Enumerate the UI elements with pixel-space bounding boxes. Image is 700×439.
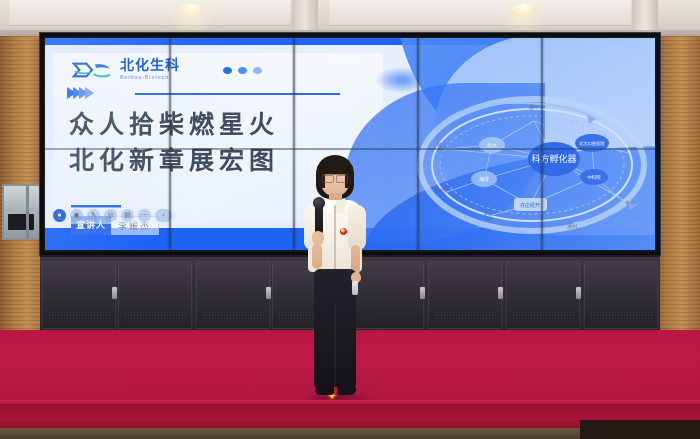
highlighter-icon[interactable]: ◎ <box>104 209 117 222</box>
shoe-right <box>337 385 356 395</box>
header-rule <box>135 93 340 95</box>
decor-dot-1 <box>223 67 232 74</box>
network-diagram-svg: 昌平 顺义 朝阳 大兴 通州 丰台 北大 海淀 <box>414 93 649 238</box>
shoe-left <box>315 385 334 395</box>
wall-panel-right <box>654 36 700 354</box>
sleeve-right <box>348 205 366 250</box>
arm-left <box>312 243 322 269</box>
video-wall-seam <box>417 38 419 250</box>
decor-dot-3 <box>253 67 262 74</box>
ceiling-bay <box>330 0 630 26</box>
brand-logo: 北化生科 Beihua-Biotech <box>71 59 180 81</box>
glasses-icon <box>322 174 348 181</box>
diagram-city-label: 昌平 <box>529 105 539 111</box>
presenter-person <box>296 155 374 405</box>
slide-grid-icon[interactable]: ▤ <box>121 209 134 222</box>
hand-left <box>312 231 324 245</box>
video-wall-seam <box>45 148 655 150</box>
diagram-node-label: 北大口腔医院 <box>579 140 605 147</box>
cabinet-vent <box>434 311 496 324</box>
cabinet-latch-icon[interactable] <box>576 287 581 299</box>
decor-blob <box>375 67 429 93</box>
diagram-city-label: 大兴 <box>483 212 493 219</box>
ceiling-spotlight-icon <box>510 4 536 16</box>
presentation-scene: 北化生科 Beihua-Biotech <box>0 0 700 439</box>
diagram-node-label: 中科院 <box>587 174 601 181</box>
presentation-toolbar[interactable]: ● ◉ ✎ ◎ ▤ ⋯ ‹ <box>49 207 176 224</box>
chevron-decor-icon <box>67 87 91 99</box>
booth-monitor-icon <box>8 214 34 230</box>
logo-text-en: Beihua-Biotech <box>120 75 180 81</box>
ceiling-bay <box>10 0 290 26</box>
decor-dot-2 <box>238 67 247 74</box>
diagram-node-label: 亦庄经开 <box>520 202 540 209</box>
window-mullion <box>26 186 29 238</box>
cabinet-latch-icon[interactable] <box>112 287 117 299</box>
diagram-node-label: 海淀 <box>479 176 489 183</box>
laser-pointer-icon[interactable]: ◉ <box>70 209 83 222</box>
ceiling-spotlight-icon <box>178 4 204 16</box>
diagram-city-label: 丰台 <box>625 200 635 207</box>
cabinet-latch-icon[interactable] <box>266 287 271 299</box>
cabinet-vent <box>512 311 574 324</box>
cabinet-vent <box>590 311 652 324</box>
cabinet-latch-icon[interactable] <box>498 287 503 299</box>
floor-shadow <box>580 420 700 439</box>
trouser-seam <box>334 305 336 387</box>
video-wall-seam <box>541 38 543 250</box>
logo-text-cn: 北化生科 <box>120 59 180 73</box>
cabinet-vent <box>124 311 186 324</box>
decor-dots <box>223 67 262 74</box>
presentation-clicker-icon <box>352 281 358 295</box>
diagram-city-label: 朝阳 <box>435 188 445 195</box>
cabinet-vent <box>48 311 110 324</box>
ceiling-rib <box>292 0 318 30</box>
diagram-center-node: 科方孵化器 <box>531 153 576 165</box>
pen-icon[interactable]: ✎ <box>87 209 100 222</box>
shirt-placket <box>334 205 336 271</box>
network-diagram: 昌平 顺义 朝阳 大兴 通州 丰台 北大 海淀 <box>414 93 649 238</box>
more-options-icon[interactable]: ⋯ <box>138 209 151 222</box>
cabinet-vent <box>202 311 264 324</box>
video-wall-seam <box>293 38 295 250</box>
diagram-city-label: 通州 <box>567 223 577 230</box>
ceiling-rib <box>632 0 658 30</box>
party-emblem-pin-icon <box>340 228 347 235</box>
slide-title-line-1: 众人拾柴燃星火 <box>69 107 359 143</box>
ceiling <box>0 0 700 34</box>
control-booth-window <box>2 184 42 240</box>
logo-mark-icon <box>71 60 113 80</box>
cabinet-latch-icon[interactable] <box>420 287 425 299</box>
video-wall-seam <box>169 38 171 250</box>
pen-pointer-icon[interactable]: ● <box>53 209 66 222</box>
microphone-icon <box>313 197 325 209</box>
